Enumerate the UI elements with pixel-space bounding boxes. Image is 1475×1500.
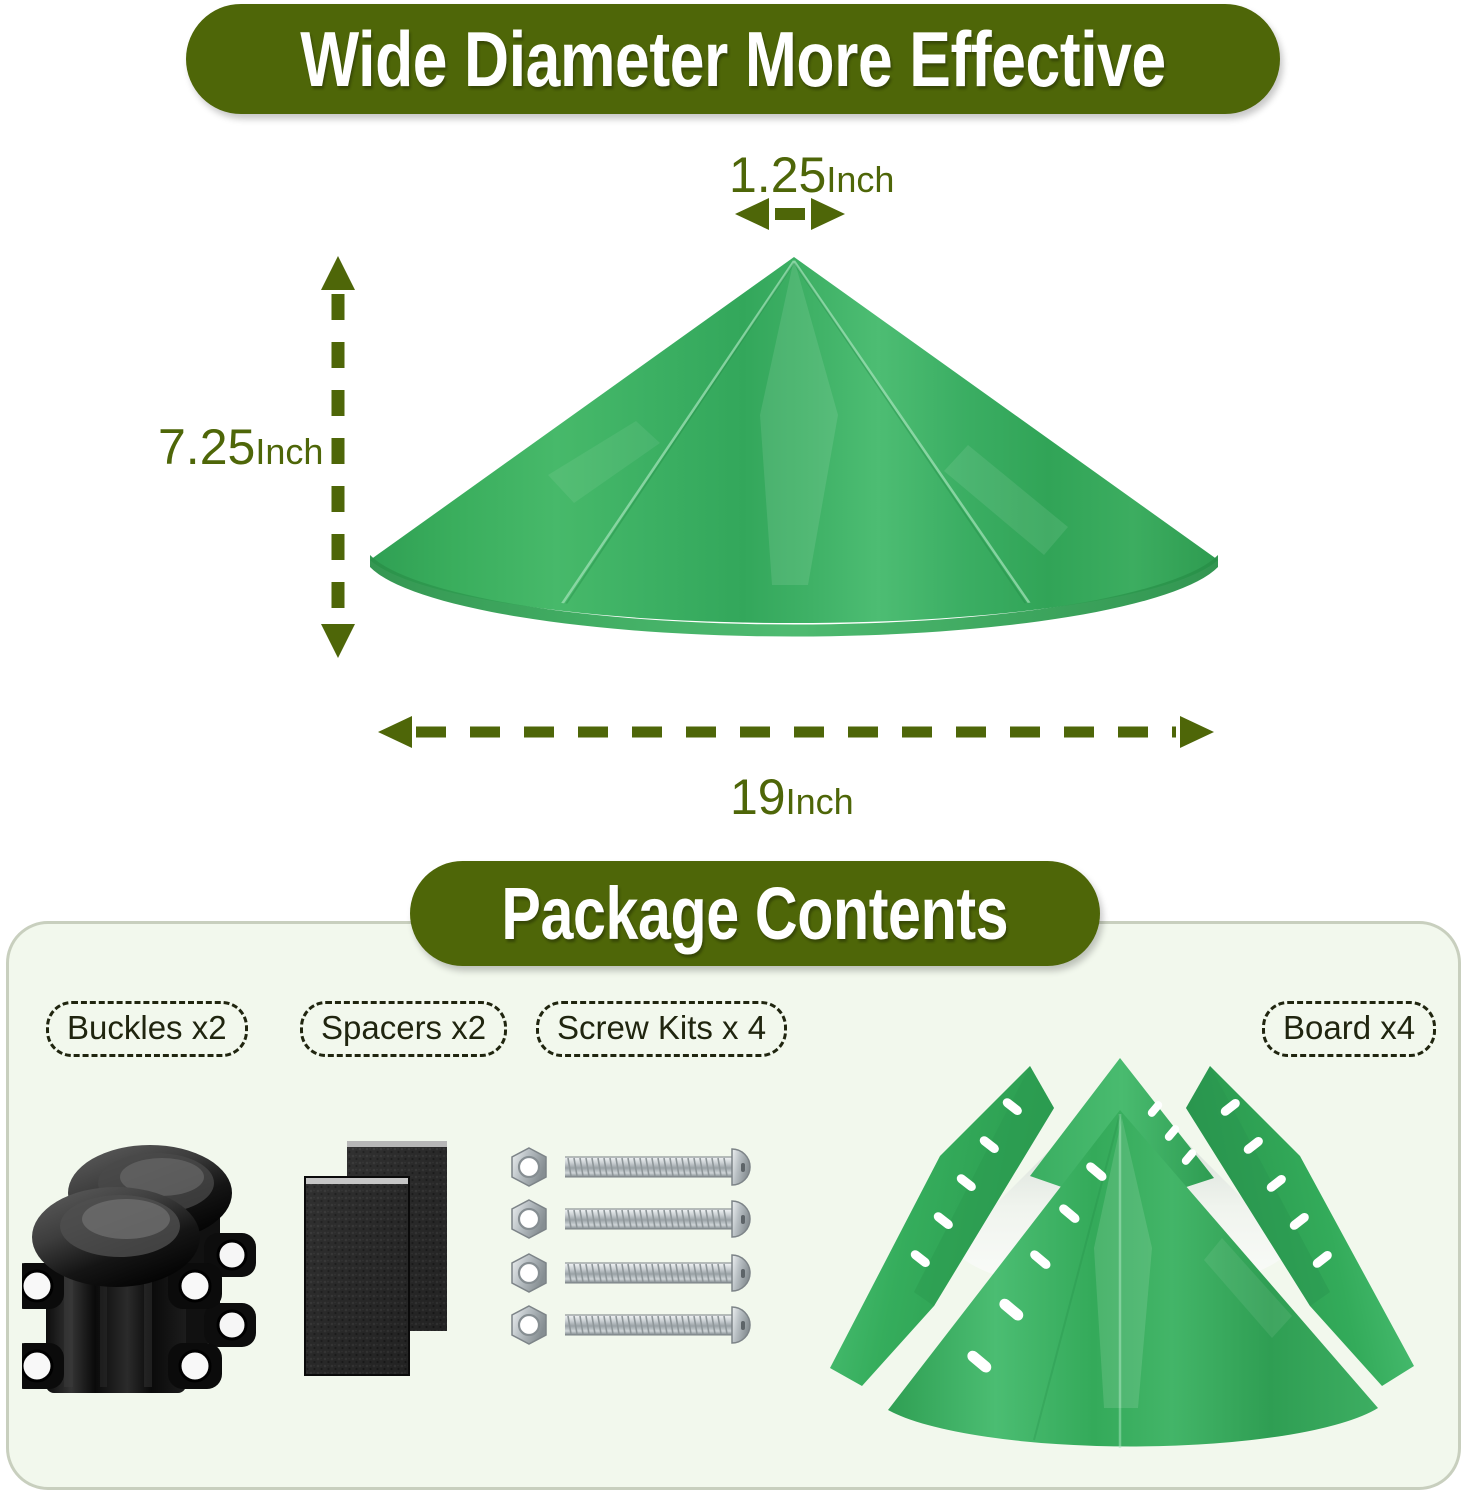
cone-board-icon (822, 1048, 1462, 1478)
dimension-label-base-width: 19 Inch (730, 768, 854, 826)
double-arrow-horizontal-base-icon (378, 716, 1214, 748)
screw-kit-row (512, 1254, 750, 1292)
cone-graphic (368, 255, 1220, 655)
dimension-value-height: 7.25 (158, 418, 255, 476)
part-label-spacers: Spacers x2 (300, 1001, 507, 1057)
dimension-value-base-width: 19 (730, 768, 786, 826)
package-contents-banner-text: Package Contents (502, 871, 1009, 956)
part-image-cone-boards (822, 1048, 1462, 1478)
dimension-unit-top-opening: Inch (826, 159, 894, 201)
headline-banner-wide-diameter: Wide Diameter More Effective (186, 4, 1280, 114)
part-image-spacers (295, 1133, 465, 1388)
package-contents-banner: Package Contents (410, 861, 1100, 966)
dimension-unit-height: Inch (255, 431, 323, 473)
screw-kit-icon (505, 1143, 775, 1355)
part-image-screw-kits (505, 1143, 775, 1355)
buckle-icon (22, 1135, 274, 1425)
part-image-buckles (22, 1135, 274, 1425)
screw-kit-row (512, 1200, 750, 1238)
double-arrow-horizontal-top-icon (735, 196, 845, 232)
product-image-cone-baffle (368, 255, 1220, 655)
screw-kit-row (512, 1148, 750, 1186)
headline-banner-text: Wide Diameter More Effective (300, 14, 1166, 105)
part-label-screw-kits: Screw Kits x 4 (536, 1001, 787, 1057)
spacer-icon (295, 1133, 465, 1388)
part-label-buckles: Buckles x2 (46, 1001, 248, 1057)
dimension-unit-base-width: Inch (786, 781, 854, 823)
dimension-label-height: 7.25 Inch (158, 418, 323, 476)
screw-kit-row (512, 1306, 750, 1344)
double-arrow-vertical-height-icon (318, 256, 358, 658)
